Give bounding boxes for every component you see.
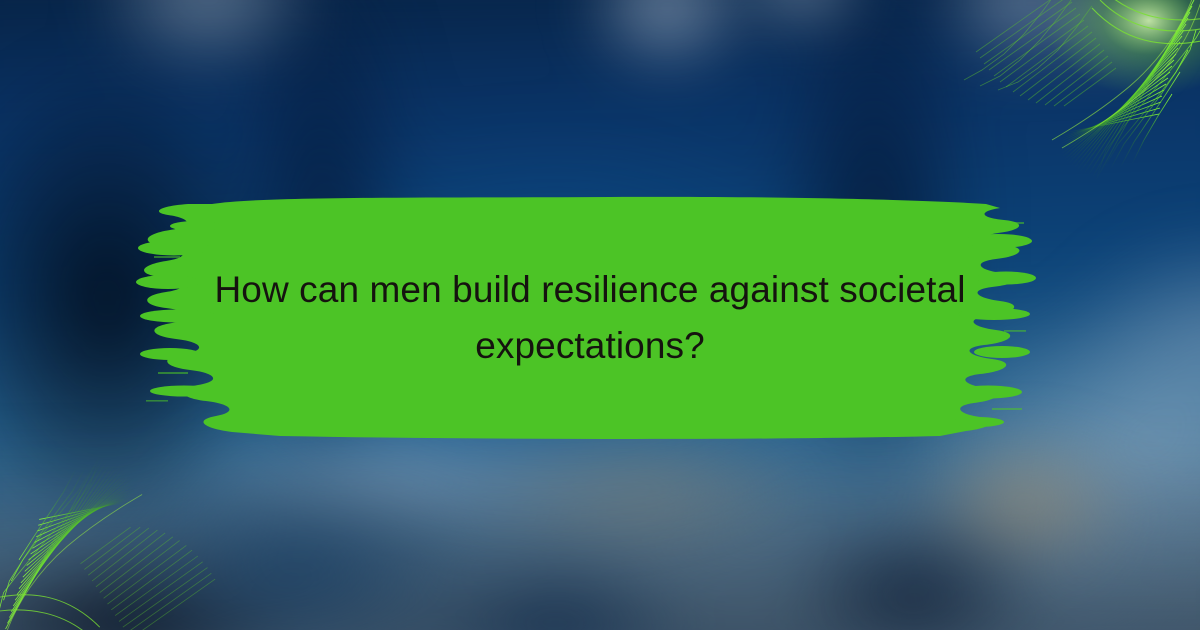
page-title: How can men build resilience against soc…: [170, 262, 1010, 374]
social-card: How can men build resilience against soc…: [0, 0, 1200, 630]
